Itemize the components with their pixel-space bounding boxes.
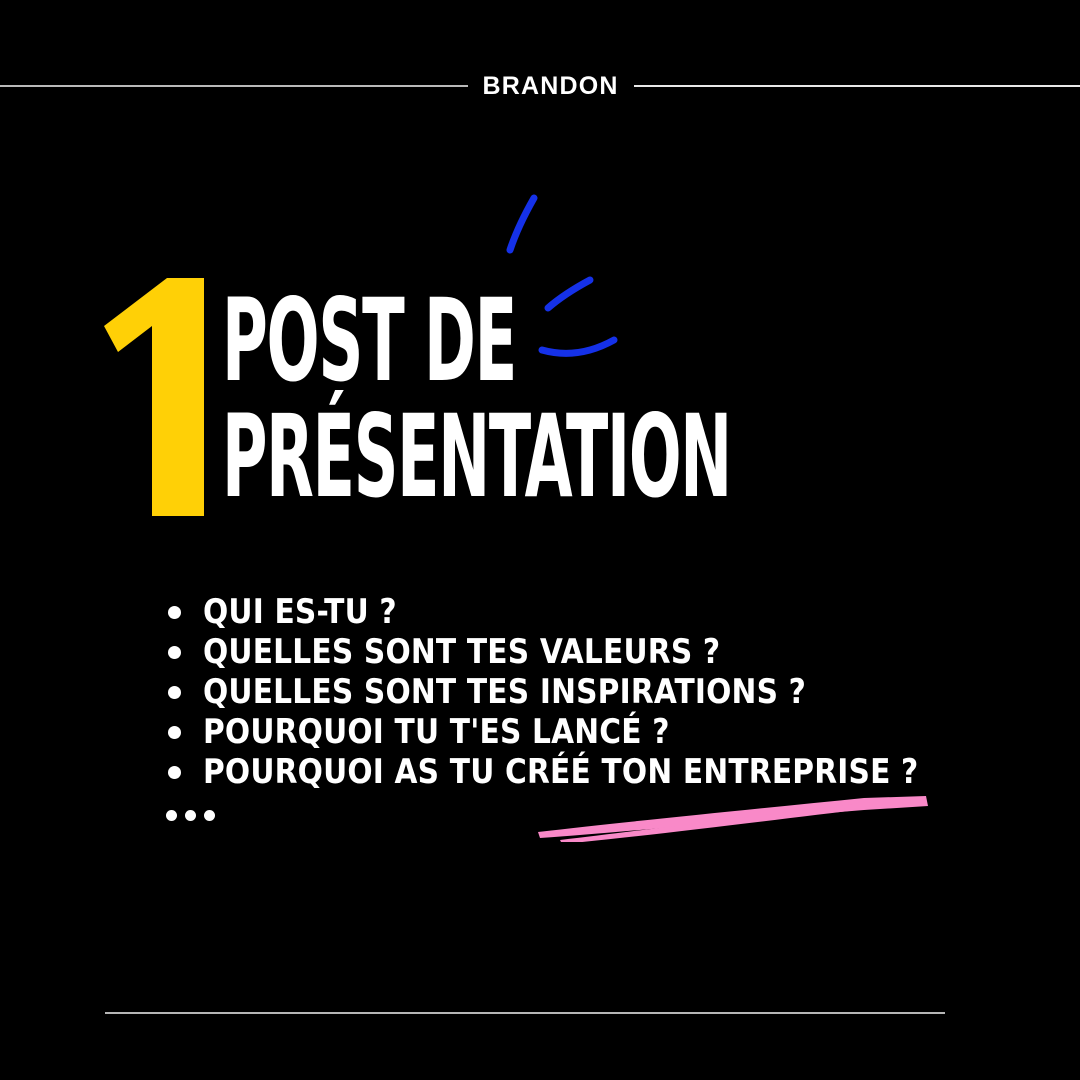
bullet-dot-icon <box>168 766 181 779</box>
bottom-divider <box>105 1012 945 1014</box>
bullet-dot-icon <box>168 606 181 619</box>
ellipsis-dot-icon <box>204 810 215 821</box>
list-item: QUELLES SONT TES VALEURS ? <box>160 632 1040 672</box>
header-rule-left <box>0 85 468 87</box>
title-line-post-de: POST DE <box>222 284 516 398</box>
bullet-dot-icon <box>168 646 181 659</box>
list-item: QUI ES-TU ? <box>160 592 1040 632</box>
list-item: POURQUOI AS TU CRÉÉ TON ENTREPRISE ? <box>160 752 1040 792</box>
ellipsis-dot-icon <box>166 810 177 821</box>
title-block: POST DE PRÉSENTATION <box>104 278 884 528</box>
header-bar: BRANDON <box>0 68 1080 104</box>
list-item-label: POURQUOI TU T'ES LANCÉ ? <box>203 715 670 749</box>
list-item: POURQUOI TU T'ES LANCÉ ? <box>160 712 1040 752</box>
title-line-presentation: PRÉSENTATION <box>222 400 731 514</box>
header-rule-right <box>634 85 1080 87</box>
brand-name: BRANDON <box>483 74 619 99</box>
bullet-dot-icon <box>168 726 181 739</box>
bullet-list: QUI ES-TU ? QUELLES SONT TES VALEURS ? Q… <box>160 592 1040 838</box>
list-item-label: QUELLES SONT TES VALEURS ? <box>203 635 720 669</box>
ellipsis-dot-icon <box>185 810 196 821</box>
list-item-label: QUELLES SONT TES INSPIRATIONS ? <box>203 675 806 709</box>
big-number-one <box>104 278 216 516</box>
slide-canvas: BRANDON POST DE PRÉSENTATION QUI ES-TU ?… <box>0 0 1080 1080</box>
list-continuation-ellipsis <box>160 792 1040 838</box>
list-item-label: POURQUOI AS TU CRÉÉ TON ENTREPRISE ? <box>203 755 918 789</box>
list-item: QUELLES SONT TES INSPIRATIONS ? <box>160 672 1040 712</box>
list-item-label: QUI ES-TU ? <box>203 595 397 629</box>
bullet-dot-icon <box>168 686 181 699</box>
